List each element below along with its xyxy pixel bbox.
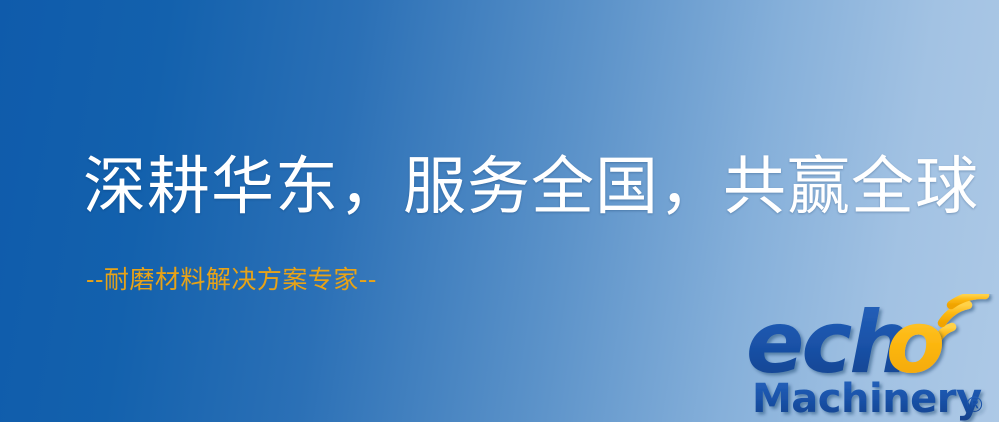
signal-arc-middle bbox=[942, 305, 968, 323]
banner-headline: 深耕华东，服务全国，共赢全球 bbox=[83, 152, 979, 223]
logo-svg: ech o Machinery ® bbox=[746, 294, 999, 422]
logo-tagline: Machinery bbox=[752, 376, 982, 422]
logo-tagline-group: Machinery ® bbox=[752, 376, 985, 422]
banner-subtitle: --耐磨材料解决方案专家-- bbox=[86, 266, 377, 295]
echo-machinery-logo: ech o Machinery ® bbox=[746, 294, 999, 422]
registered-trademark-icon: ® bbox=[964, 393, 985, 417]
promo-banner: 深耕华东，服务全国，共赢全球 --耐磨材料解决方案专家-- bbox=[0, 0, 999, 422]
